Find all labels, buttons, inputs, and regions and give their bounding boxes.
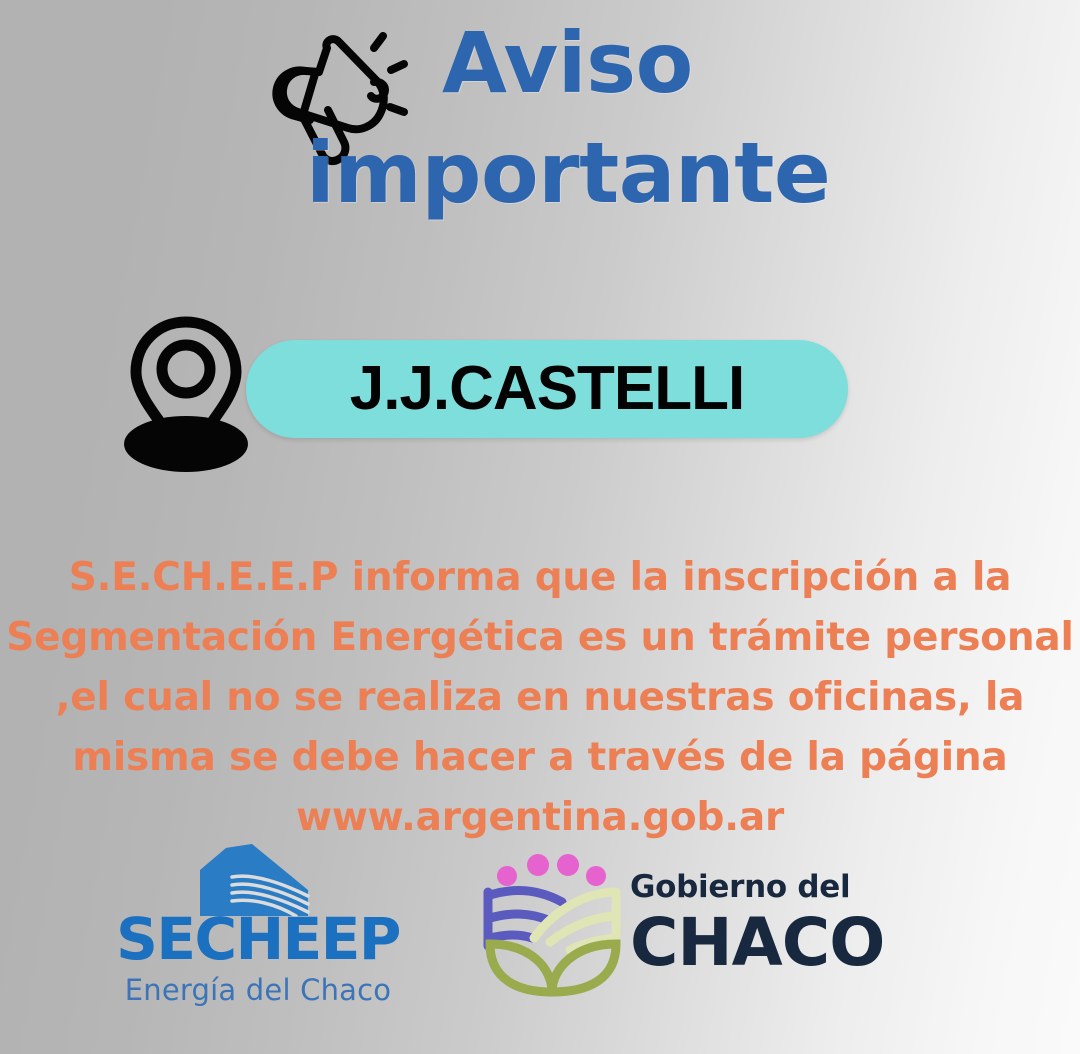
map-pin-icon (122, 314, 250, 474)
title-line-aviso: Aviso (300, 22, 1000, 104)
secheep-logo: SECHEEP Energía del Chaco (98, 844, 418, 1014)
title-line-importante: importante (300, 132, 1000, 214)
chaco-wordmark: Gobierno del CHACO (630, 872, 940, 976)
announcement-line-2: Segmentación Energética es un trámite pe… (0, 608, 1080, 668)
secheep-wordmark: SECHEEP (98, 910, 418, 968)
footer-logos: SECHEEP Energía del Chaco (0, 838, 1080, 1018)
page-title: Aviso importante (300, 22, 1000, 215)
poster-canvas: Aviso importante J.J.CASTELLI S.E.CH.E.E… (0, 0, 1080, 1054)
secheep-tagline: Energía del Chaco (98, 976, 418, 1005)
chaco-line-gobierno: Gobierno del (630, 872, 940, 903)
chaco-line-chaco: CHACO (630, 910, 940, 976)
announcement-line-4: misma se debe hacer a través de la págin… (0, 728, 1080, 788)
location-section: J.J.CASTELLI (0, 312, 1080, 477)
chaco-leaf-icon (478, 850, 628, 998)
announcement-line-1: S.E.CH.E.E.P informa que la inscripción … (0, 548, 1080, 608)
city-name: J.J.CASTELLI (350, 358, 745, 420)
city-badge: J.J.CASTELLI (246, 340, 848, 438)
header-section: Aviso importante (0, 0, 1080, 265)
chaco-logo: Gobierno del CHACO (478, 846, 938, 1006)
announcement-text: S.E.CH.E.E.P informa que la inscripción … (0, 548, 1080, 848)
announcement-line-3: ,el cual no se realiza en nuestras ofici… (0, 668, 1080, 728)
